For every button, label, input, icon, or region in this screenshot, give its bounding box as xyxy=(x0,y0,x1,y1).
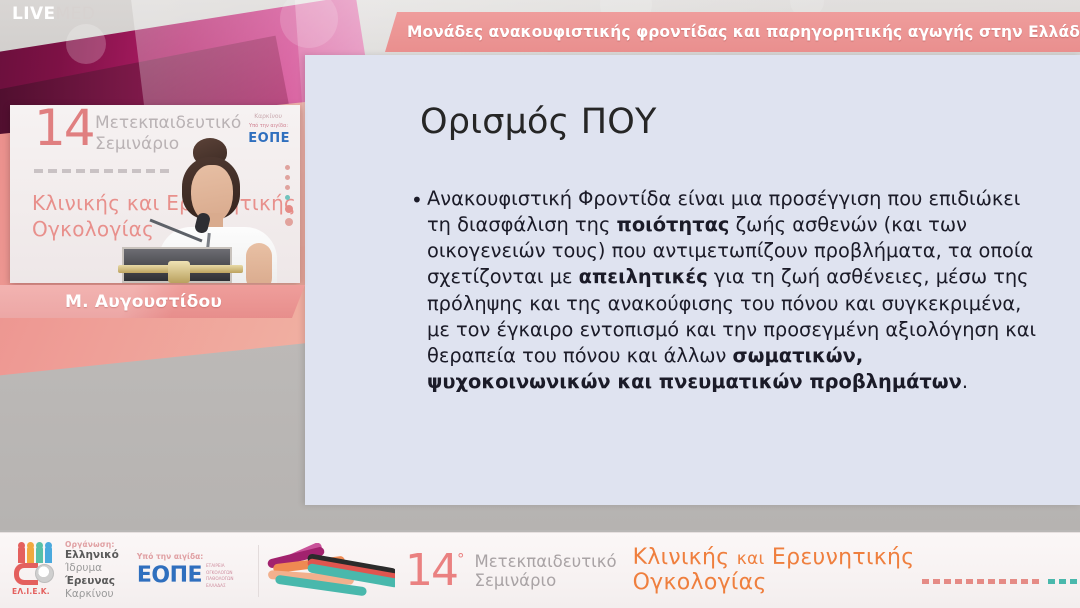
livemed-logo-live: LIVE xyxy=(12,4,56,24)
slide-body: • Ανακουφιστική Φροντίδα είναι μια προσέ… xyxy=(411,186,1040,396)
eope-subtitle: ΕΤΑΙΡΕΙΑ ΟΓΚΟΛΟΓΩΝ ΠΑΘΟΛΟΓΩΝ ΕΛΛΑΔΑΣ xyxy=(206,563,246,589)
event-topic-line1-b: Ερευνητικής xyxy=(765,545,915,570)
event-topic: Κλινικής και Ερευνητικής Ογκολογίας xyxy=(633,546,915,595)
backdrop-seminar-line1: Μετεκπαιδευτικό xyxy=(95,113,241,134)
event-kind-line2: Σεμινάριο xyxy=(475,572,617,591)
slide-bullet-item: • Ανακουφιστική Φροντίδα είναι μια προσέ… xyxy=(411,186,1040,396)
banner-dash-rule-teal xyxy=(1048,579,1080,584)
podium-emblem xyxy=(168,261,190,283)
event-topic-line1: Κλινικής και Ερευνητικής xyxy=(633,546,915,571)
eliek-acronym: ΕΛ.Ι.Ε.Κ. xyxy=(12,587,50,596)
event-kind-line1: Μετεκπαιδευτικό xyxy=(475,553,617,572)
speaker-name: Μ. Αυγουστίδου xyxy=(0,292,287,312)
livemed-logo-med: MED xyxy=(56,4,96,24)
event-kind: Μετεκπαιδευτικό Σεμινάριο xyxy=(475,553,617,591)
eope-logo: ΕΟΠΕ xyxy=(137,565,202,587)
slide-bullet-text: Ανακουφιστική Φροντίδα είναι μια προσέγγ… xyxy=(427,186,1040,396)
banner-divider xyxy=(258,545,259,597)
event-number: 14 xyxy=(405,550,457,592)
presentation-title: Μονάδες ανακουφιστικής φροντίδας και παρ… xyxy=(407,23,1080,41)
event-banner: ΕΛ.Ι.Ε.Κ. Οργάνωση: Ελληνικό Ίδρυμα Έρευ… xyxy=(0,532,1080,608)
organizer-label: Οργάνωση: xyxy=(65,540,119,549)
slide-text-emphasis: ποιότητας xyxy=(617,213,730,236)
event-topic-line2: Ογκολογίας xyxy=(633,571,915,596)
event-topic-kai: και xyxy=(737,549,765,569)
organizer-line1: Ελληνικό xyxy=(65,549,119,562)
backdrop-eope-logo: ΕΟΠΕ xyxy=(248,131,290,146)
slide-text-emphasis: απειλητικές xyxy=(579,265,708,288)
organizer-line3: Έρευνας xyxy=(65,575,119,588)
backdrop-karkinou-label: Καρκίνου xyxy=(254,113,282,120)
backdrop-event-number: 14 xyxy=(34,105,94,157)
event-swoosh-graphic xyxy=(265,543,395,599)
backdrop-dot-column xyxy=(285,165,293,231)
backdrop-auspices-label: Υπό την αιγίδα: xyxy=(249,123,288,129)
auspices-label: Υπό την αιγίδα: xyxy=(137,552,246,561)
slide-panel: Ορισμός ΠΟΥ • Ανακουφιστική Φροντίδα είν… xyxy=(305,55,1080,505)
broadcast-viewer: LIVEMED Μονάδες ανακουφιστικής φροντίδας… xyxy=(0,0,1080,608)
backdrop-dash-rule xyxy=(34,169,174,173)
livemed-logo: LIVEMED xyxy=(12,6,95,23)
slide-title: Ορισμός ΠΟΥ xyxy=(420,103,1040,142)
backdrop-topic-line1: Κλινικής και Ερευνητικής xyxy=(32,190,296,216)
auspices-block: Υπό την αιγίδα: ΕΟΠΕ ΕΤΑΙΡΕΙΑ ΟΓΚΟΛΟΓΩΝ … xyxy=(125,552,258,589)
event-degree-symbol: ° xyxy=(457,552,465,567)
organizer-line2: Ίδρυμα xyxy=(65,562,119,575)
banner-dash-rule-pink xyxy=(922,579,1042,584)
event-number-block: 14 ° Μετεκπαιδευτικό Σεμινάριο xyxy=(401,550,617,592)
organizer-text: Οργάνωση: Ελληνικό Ίδρυμα Έρευνας Καρκίν… xyxy=(65,540,119,600)
bullet-marker-icon: • xyxy=(411,187,427,213)
organizer-block: ΕΛ.Ι.Ε.Κ. Οργάνωση: Ελληνικό Ίδρυμα Έρευ… xyxy=(0,540,125,600)
presentation-title-bar: Μονάδες ανακουφιστικής φροντίδας και παρ… xyxy=(385,12,1080,52)
slide-text-run: . xyxy=(962,370,968,393)
speaker-video-tile[interactable]: 14 Μετεκπαιδευτικό Σεμινάριο Κλινικής κα… xyxy=(10,105,300,283)
speaker-arm xyxy=(246,243,272,283)
eliek-logo-icon: ΕΛ.Ι.Ε.Κ. xyxy=(10,544,58,596)
organizer-line4: Καρκίνου xyxy=(65,588,119,601)
event-topic-line1-a: Κλινικής xyxy=(633,545,737,570)
speaker-name-bar: Μ. Αυγουστίδου xyxy=(0,285,305,318)
decor-bubble xyxy=(66,24,106,64)
